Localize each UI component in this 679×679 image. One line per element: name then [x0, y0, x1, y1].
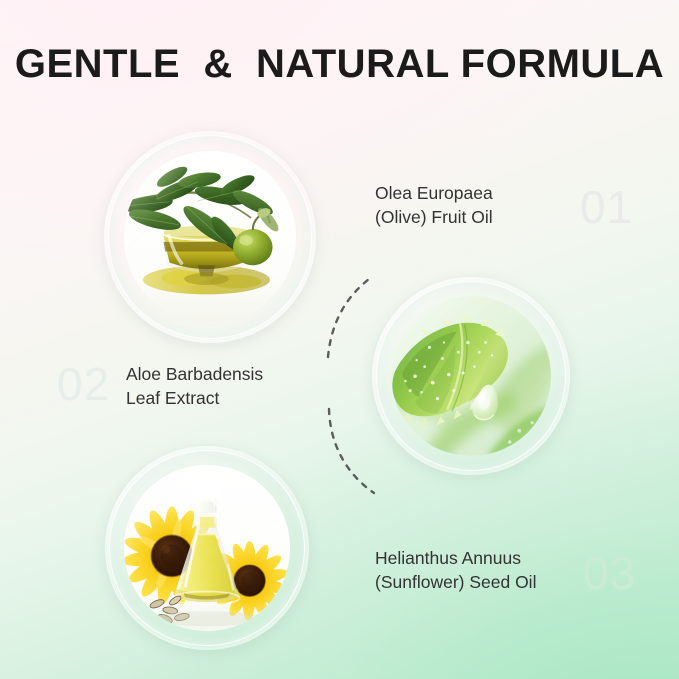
ingredient-label-sunflower: Helianthus Annuus (Sunflower) Seed Oil	[375, 546, 536, 594]
connector-aloe-to-sunflower	[329, 409, 374, 493]
ingredient-number-02: 02	[57, 357, 110, 411]
connector-lines	[0, 0, 679, 679]
ingredient-circle-sunflower[interactable]	[105, 446, 309, 650]
ingredient-label-olive: Olea Europaea (Olive) Fruit Oil	[375, 181, 493, 229]
olive-oil-photo	[124, 151, 296, 323]
ingredient-circle-olive[interactable]	[104, 131, 316, 343]
ingredient-infographic-poster: GENTLE & NATURAL FORMULA	[0, 0, 679, 679]
ingredient-number-03: 03	[583, 546, 636, 600]
sunflower-oil-photo	[124, 465, 289, 630]
aloe-vera-photo	[391, 296, 551, 456]
ingredient-number-01: 01	[580, 180, 633, 234]
connector-olive-to-aloe	[328, 276, 373, 357]
ingredient-label-aloe: Aloe Barbadensis Leaf Extract	[126, 362, 263, 410]
ingredient-circle-aloe[interactable]	[372, 277, 570, 475]
page-title: GENTLE & NATURAL FORMULA	[0, 42, 679, 87]
